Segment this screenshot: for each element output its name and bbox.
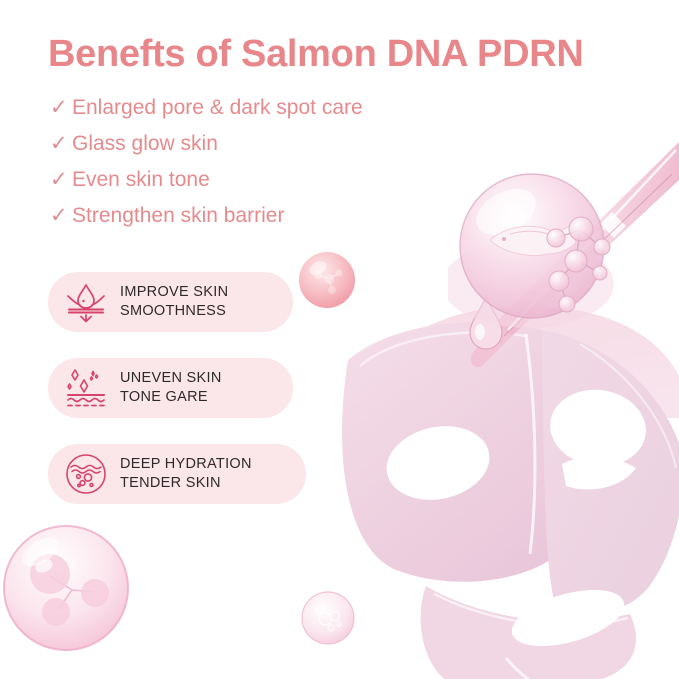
feature-pill-label: DEEP HYDRATION TENDER SKIN [120,455,252,493]
benefits-checklist: ✓ Enlarged pore & dark spot care ✓ Glass… [50,96,470,240]
feature-pill-improve-skin-smoothness: IMPROVE SKIN SMOOTHNESS [48,272,293,332]
serum-droplet-icon [466,294,506,350]
serum-sphere-icon [448,168,638,353]
micro-bubble-icon [299,589,357,647]
droplet-absorb-icon [62,278,110,326]
serum-pool [360,300,679,420]
hydration-circle-icon [62,450,110,498]
checklist-item: ✓ Strengthen skin barrier [50,204,470,240]
feature-pill-label: IMPROVE SKIN SMOOTHNESS [120,283,228,321]
check-icon: ✓ [50,97,72,118]
page-title: Benefts of Salmon DNA PDRN [48,33,584,76]
checklist-item-label: Enlarged pore & dark spot care [72,96,363,120]
checklist-item-label: Strengthen skin barrier [72,204,284,228]
sheet-mask-icon [330,318,679,679]
checklist-item: ✓ Even skin tone [50,168,470,204]
check-icon: ✓ [50,205,72,226]
feature-pill-label: UNEVEN SKIN TONE GARE [120,369,222,407]
feature-pill-uneven-skin-tone-gare: UNEVEN SKIN TONE GARE [48,358,293,418]
feature-pill-deep-hydration-tender-skin: DEEP HYDRATION TENDER SKIN [48,444,306,504]
check-icon: ✓ [50,169,72,190]
molecule-bubble-large-icon [0,518,140,658]
checklist-item-label: Even skin tone [72,168,210,192]
checklist-item: ✓ Enlarged pore & dark spot care [50,96,470,132]
sparkle-waves-icon [62,364,110,412]
checklist-item-label: Glass glow skin [72,132,218,156]
checklist-item: ✓ Glass glow skin [50,132,470,168]
check-icon: ✓ [50,133,72,154]
molecule-bubble-small-icon [296,249,358,311]
product-infographic: Benefts of Salmon DNA PDRN ✓ Enlarged po… [0,0,679,679]
